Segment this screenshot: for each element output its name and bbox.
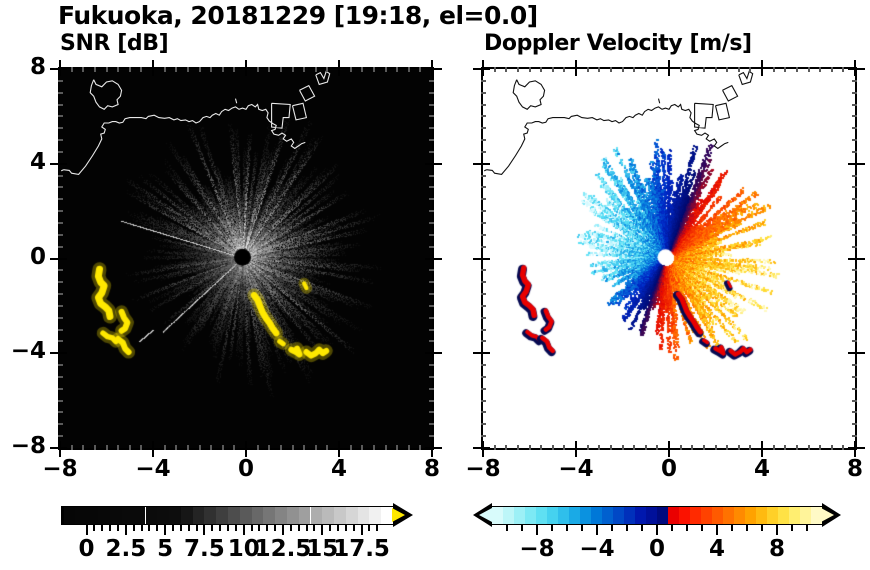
ytick [481, 246, 486, 248]
ytick [429, 80, 434, 82]
xtick [140, 67, 142, 72]
snr-colorbar[interactable] [63, 506, 393, 525]
colorbar-segment [514, 507, 525, 524]
ytick [481, 329, 486, 331]
xtick [563, 445, 565, 450]
xtick [773, 67, 775, 72]
colorbar-tick [686, 525, 688, 531]
ytick-major [432, 258, 442, 260]
xtick [373, 67, 375, 72]
xtick [529, 445, 531, 450]
ytick [481, 198, 486, 200]
ytick [58, 411, 63, 413]
ytick [58, 305, 63, 307]
xtick [82, 445, 84, 450]
colorbar-tick [353, 525, 355, 531]
ytick [852, 234, 857, 236]
colorbar-tick [227, 525, 229, 531]
xtick [819, 67, 821, 72]
xtick-major [761, 60, 763, 69]
ytick-label: −8 [0, 433, 46, 459]
ytick [58, 222, 63, 224]
colorbar-tick [536, 525, 538, 535]
colorbar-tick [521, 525, 523, 531]
colorbar-tick [141, 525, 143, 531]
xtick-major [338, 60, 340, 69]
xtick [808, 67, 810, 72]
xtick [315, 445, 317, 450]
snr-panel-title: SNR [dB] [60, 31, 168, 56]
colorbar-segment [369, 507, 381, 524]
ytick [429, 305, 434, 307]
ytick [429, 210, 434, 212]
xtick [303, 67, 305, 72]
ytick [429, 329, 434, 331]
colorbar-segment [98, 507, 110, 524]
xtick [831, 445, 833, 450]
xtick [222, 445, 224, 450]
colorbar-tick [656, 525, 658, 535]
doppler-coastline [483, 69, 855, 448]
xtick [187, 67, 189, 72]
ytick [429, 175, 434, 177]
ytick [481, 376, 486, 378]
ytick [58, 340, 63, 342]
colorbar-tick [761, 525, 763, 531]
ytick [58, 104, 63, 106]
colorbar-tick [368, 525, 370, 531]
xtick [703, 445, 705, 450]
xtick [175, 445, 177, 450]
xtick [563, 67, 565, 72]
xtick [82, 67, 84, 72]
colorbar-tick [611, 525, 613, 531]
xtick [505, 67, 507, 72]
ytick-major [50, 68, 60, 70]
xtick [784, 67, 786, 72]
ytick [852, 376, 857, 378]
colorbar-tick [298, 525, 300, 531]
colorbar-segment [492, 507, 503, 524]
colorbar-segment [275, 507, 287, 524]
colorbar-segment [624, 507, 635, 524]
colorbar-segment [346, 507, 358, 524]
ytick [481, 364, 486, 366]
xtick-major [575, 60, 577, 69]
ytick [852, 388, 857, 390]
xtick-label: 4 [736, 456, 788, 482]
ytick [852, 92, 857, 94]
xtick-label: −4 [550, 456, 602, 482]
colorbar-under-arrow-fill [479, 508, 492, 522]
xtick-label: 8 [829, 456, 870, 482]
ytick [852, 222, 857, 224]
ytick [481, 305, 486, 307]
ytick [58, 293, 63, 295]
ytick [58, 400, 63, 402]
ytick [429, 127, 434, 129]
colorbar-tick [219, 525, 221, 531]
ytick [58, 92, 63, 94]
colorbar-segment [657, 507, 668, 524]
colorbar-tick [776, 525, 778, 535]
colorbar-segment [635, 507, 646, 524]
ytick-major [50, 447, 60, 449]
xtick [831, 67, 833, 72]
xtick-label: −4 [127, 456, 179, 482]
xtick [598, 67, 600, 72]
ytick-major [855, 163, 865, 165]
colorbar-tick [109, 525, 111, 531]
ytick-major [473, 447, 483, 449]
colorbar-tick [566, 525, 568, 531]
colorbar-tick [746, 525, 748, 531]
colorbar-segment [287, 507, 299, 524]
xtick [199, 445, 201, 450]
colorbar-segment [358, 507, 370, 524]
xtick-label: −8 [457, 456, 509, 482]
doppler-colorbar[interactable] [492, 506, 822, 525]
colorbar-tick [235, 525, 237, 531]
colorbar-segment [712, 507, 723, 524]
xtick [726, 67, 728, 72]
colorbar-tick [313, 525, 315, 531]
ytick [58, 423, 63, 425]
ytick [58, 175, 63, 177]
xtick [622, 445, 624, 450]
ytick [852, 435, 857, 437]
xtick [350, 67, 352, 72]
ytick [852, 115, 857, 117]
xtick [808, 445, 810, 450]
snr-plot-area[interactable] [58, 67, 434, 450]
ytick [58, 388, 63, 390]
xtick [633, 67, 635, 72]
colorbar-segment [646, 507, 657, 524]
colorbar-tick [282, 525, 284, 535]
colorbar-segment [134, 507, 146, 524]
ytick [481, 388, 486, 390]
colorbar-label: 8 [747, 536, 807, 562]
ytick [58, 246, 63, 248]
colorbar-label: 17.5 [332, 536, 392, 562]
colorbar-segment [157, 507, 169, 524]
xtick [494, 445, 496, 450]
ytick [852, 364, 857, 366]
ytick-major [50, 258, 60, 260]
xtick [419, 445, 421, 450]
xtick [350, 445, 352, 450]
ytick [429, 364, 434, 366]
xtick [419, 67, 421, 72]
colorbar-segment [558, 507, 569, 524]
ytick [481, 80, 486, 82]
xtick [529, 67, 531, 72]
colorbar-tick [156, 525, 158, 531]
ytick [852, 139, 857, 141]
colorbar-tick [806, 525, 808, 531]
ytick [58, 210, 63, 212]
colorbar-over-arrow-fill [392, 508, 405, 522]
ytick-label: 8 [0, 54, 46, 80]
ytick [481, 104, 486, 106]
colorbar-segment [322, 507, 334, 524]
ytick [429, 376, 434, 378]
xtick-label: 4 [313, 456, 365, 482]
xtick-label: −8 [34, 456, 86, 482]
ytick [481, 400, 486, 402]
xtick [175, 67, 177, 72]
colorbar-tick [731, 525, 733, 531]
colorbar-tick [164, 525, 166, 535]
colorbar-tick [551, 525, 553, 531]
xtick [361, 445, 363, 450]
xtick [552, 67, 554, 72]
ytick [429, 186, 434, 188]
ytick [852, 151, 857, 153]
xtick [715, 67, 717, 72]
xtick [257, 67, 259, 72]
ytick [481, 139, 486, 141]
colorbar-tick [716, 525, 718, 535]
xtick [645, 445, 647, 450]
xtick [517, 445, 519, 450]
colorbar-cap [61, 506, 64, 525]
ytick [429, 246, 434, 248]
ytick [481, 222, 486, 224]
ytick [481, 340, 486, 342]
xtick-label: 0 [220, 456, 272, 482]
ytick [481, 281, 486, 283]
ytick [852, 127, 857, 129]
xtick [540, 445, 542, 450]
ytick-major [473, 352, 483, 354]
xtick [210, 67, 212, 72]
ytick [481, 411, 486, 413]
ytick [429, 269, 434, 271]
ytick-label: 0 [0, 244, 46, 270]
colorbar-tick [626, 525, 628, 531]
ytick [58, 435, 63, 437]
xtick [71, 67, 73, 72]
xtick [784, 445, 786, 450]
xtick [587, 67, 589, 72]
colorbar-segment [63, 507, 75, 524]
xtick [773, 445, 775, 450]
colorbar-tick [117, 525, 119, 531]
ytick [429, 340, 434, 342]
colorbar-segment [756, 507, 767, 524]
colorbar-tick [196, 525, 198, 531]
xtick [71, 445, 73, 450]
ytick [852, 329, 857, 331]
xtick [268, 445, 270, 450]
colorbar-segment [800, 507, 811, 524]
ytick [429, 222, 434, 224]
xtick [117, 445, 119, 450]
xtick [210, 445, 212, 450]
xtick [326, 445, 328, 450]
ytick [481, 175, 486, 177]
colorbar-tick [203, 525, 205, 535]
xtick [408, 67, 410, 72]
ytick [58, 186, 63, 188]
ytick [429, 293, 434, 295]
ytick-major [432, 447, 442, 449]
ytick [481, 423, 486, 425]
colorbar-tick [306, 525, 308, 531]
ytick [852, 281, 857, 283]
colorbar-segment [789, 507, 800, 524]
ytick-major [855, 68, 865, 70]
colorbar-label: −4 [567, 536, 627, 562]
colorbar-segment [122, 507, 134, 524]
ytick [481, 269, 486, 271]
ytick [429, 411, 434, 413]
ytick [481, 435, 486, 437]
colorbar-segment [503, 507, 514, 524]
ytick [852, 340, 857, 342]
colorbar-segment [525, 507, 536, 524]
colorbar-segment [263, 507, 275, 524]
colorbar-tick [211, 525, 213, 531]
ytick [429, 435, 434, 437]
ytick [852, 305, 857, 307]
colorbar-tick [791, 525, 793, 531]
ytick-major [855, 447, 865, 449]
colorbar-label: 4 [687, 536, 747, 562]
xtick [598, 445, 600, 450]
xtick [303, 445, 305, 450]
xtick [94, 67, 96, 72]
xtick [292, 67, 294, 72]
colorbar-segment [110, 507, 122, 524]
ytick [429, 234, 434, 236]
ytick [58, 151, 63, 153]
xtick [361, 67, 363, 72]
ytick [58, 376, 63, 378]
ytick [58, 329, 63, 331]
snr-coastline [60, 69, 432, 448]
ytick [852, 246, 857, 248]
ytick [58, 269, 63, 271]
xtick [106, 67, 108, 72]
xtick-label: 8 [406, 456, 458, 482]
xtick [610, 445, 612, 450]
xtick [396, 67, 398, 72]
xtick [396, 445, 398, 450]
ytick [481, 210, 486, 212]
ytick-label: −4 [0, 338, 46, 364]
doppler-panel-title: Doppler Velocity [m/s] [484, 31, 752, 56]
xtick [540, 67, 542, 72]
xtick [749, 445, 751, 450]
colorbar-segment [679, 507, 690, 524]
ytick [852, 104, 857, 106]
xtick [140, 445, 142, 450]
xtick [691, 67, 693, 72]
colorbar-tick [266, 525, 268, 531]
colorbar-segment [547, 507, 558, 524]
ytick [58, 198, 63, 200]
colorbar-tick [125, 525, 127, 535]
ytick [481, 293, 486, 295]
colorbar-segment [723, 507, 734, 524]
xtick [117, 67, 119, 72]
ytick [852, 423, 857, 425]
colorbar-segment [613, 507, 624, 524]
colorbar-segment [169, 507, 181, 524]
xtick [552, 445, 554, 450]
ytick [58, 139, 63, 141]
xtick [842, 67, 844, 72]
ytick-major [473, 163, 483, 165]
xtick-major [668, 60, 670, 69]
colorbar-segment [204, 507, 216, 524]
ytick-major [50, 163, 60, 165]
xtick [129, 445, 131, 450]
colorbar-tick [274, 525, 276, 531]
xtick [494, 67, 496, 72]
colorbar-segment [240, 507, 252, 524]
xtick [222, 67, 224, 72]
colorbar-label: 0 [627, 536, 687, 562]
ytick [58, 127, 63, 129]
xtick [738, 67, 740, 72]
xtick [691, 445, 693, 450]
ytick [58, 281, 63, 283]
xtick [703, 67, 705, 72]
xtick [385, 445, 387, 450]
xtick [656, 67, 658, 72]
colorbar-tick [701, 525, 703, 531]
colorbar-segment [334, 507, 346, 524]
radar-display: Fukuoka, 20181229 [19:18, el=0.0] SNR [d… [0, 0, 870, 570]
ytick [58, 234, 63, 236]
xtick [633, 445, 635, 450]
xtick [326, 67, 328, 72]
xtick [280, 445, 282, 450]
xtick [257, 445, 259, 450]
colorbar-segment [668, 507, 679, 524]
doppler-plot-area[interactable] [481, 67, 857, 450]
xtick [164, 67, 166, 72]
colorbar-segment [778, 507, 789, 524]
colorbar-tick [345, 525, 347, 531]
xtick [610, 67, 612, 72]
xtick [280, 67, 282, 72]
colorbar-label: −8 [507, 536, 567, 562]
colorbar-tick [172, 525, 174, 531]
colorbar-segment [299, 507, 311, 524]
colorbar-tick [506, 525, 508, 531]
xtick [385, 67, 387, 72]
xtick [738, 445, 740, 450]
ytick [852, 175, 857, 177]
xtick-label: 0 [643, 456, 695, 482]
colorbar-segment [734, 507, 745, 524]
xtick [656, 445, 658, 450]
ytick [852, 269, 857, 271]
xtick [622, 67, 624, 72]
xtick [715, 445, 717, 450]
ytick [58, 317, 63, 319]
ytick [852, 317, 857, 319]
colorbar-tick [596, 525, 598, 535]
colorbar-segment [602, 507, 613, 524]
xtick [129, 67, 131, 72]
colorbar-tick [321, 525, 323, 535]
